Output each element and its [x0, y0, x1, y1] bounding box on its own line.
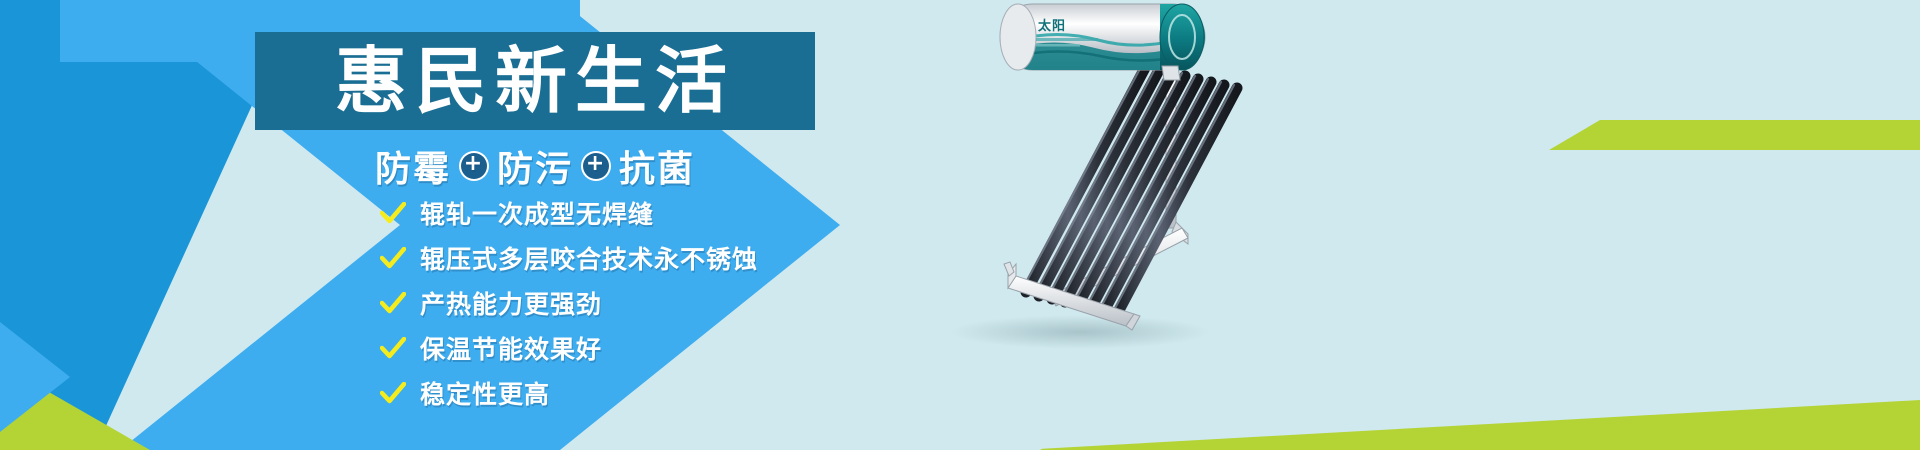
- list-item-label: 产热能力更强劲: [420, 285, 602, 321]
- text-column: 惠民新生活 防霉 + 防污 + 抗菌 辊轧一次成型无焊缝 辊压式多层咬合技术永不…: [250, 0, 950, 450]
- subtitle-part-1: 防霉: [375, 140, 451, 192]
- list-item: 保温节能效果好: [380, 330, 758, 366]
- check-icon: [380, 337, 406, 359]
- subtitle-row: 防霉 + 防污 + 抗菌: [375, 140, 695, 192]
- plus-icon: +: [461, 153, 487, 179]
- list-item: 辊轧一次成型无焊缝: [380, 195, 758, 231]
- list-item-label: 辊压式多层咬合技术永不锈蚀: [420, 240, 758, 276]
- list-item-label: 保温节能效果好: [420, 330, 602, 366]
- promotional-banner: 惠民新生活 防霉 + 防污 + 抗菌 辊轧一次成型无焊缝 辊压式多层咬合技术永不…: [0, 0, 1920, 450]
- list-item: 辊压式多层咬合技术永不锈蚀: [380, 240, 758, 276]
- list-item-label: 稳定性更高: [420, 375, 550, 411]
- subtitle-part-3: 抗菌: [619, 140, 695, 192]
- subtitle-part-2: 防污: [497, 140, 573, 192]
- tank-left-cap: [1000, 4, 1036, 70]
- tank-brand-label: 太阳: [1037, 18, 1066, 34]
- list-item: 产热能力更强劲: [380, 285, 758, 321]
- product-shadow: [950, 315, 1210, 349]
- feature-list: 辊轧一次成型无焊缝 辊压式多层咬合技术永不锈蚀 产热能力更强劲 保温节能效果好: [380, 195, 758, 411]
- check-icon: [380, 382, 406, 404]
- tank-bracket: [1162, 66, 1180, 80]
- list-item-label: 辊轧一次成型无焊缝: [420, 195, 654, 231]
- plus-icon: +: [583, 153, 609, 179]
- check-icon: [380, 202, 406, 224]
- headline-box: 惠民新生活: [255, 32, 815, 130]
- tank-end-cap: [1160, 4, 1204, 70]
- product-image-solar-water-heater: 太阳: [930, 0, 1270, 356]
- storage-tank: 太阳: [1000, 4, 1208, 70]
- list-item: 稳定性更高: [380, 375, 758, 411]
- check-icon: [380, 247, 406, 269]
- page-title: 惠民新生活: [335, 45, 735, 117]
- check-icon: [380, 292, 406, 314]
- evacuated-tube-array: [1023, 63, 1237, 314]
